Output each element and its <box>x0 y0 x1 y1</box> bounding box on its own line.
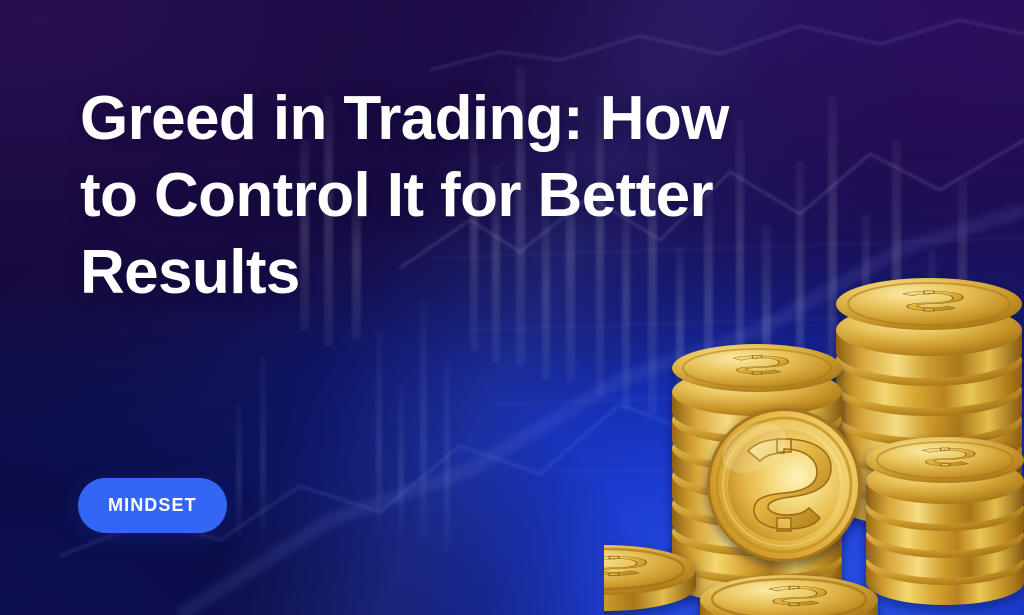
page-title-line-3: Results <box>80 234 930 311</box>
category-badge-label: MINDSET <box>108 495 197 516</box>
article-hero-banner: Greed in Trading: How to Control It for … <box>0 0 1024 615</box>
category-badge[interactable]: MINDSET <box>78 478 227 533</box>
page-title: Greed in Trading: How to Control It for … <box>80 80 930 311</box>
page-title-line-1: Greed in Trading: How <box>80 80 930 157</box>
page-title-line-2: to Control It for Better <box>80 157 930 234</box>
